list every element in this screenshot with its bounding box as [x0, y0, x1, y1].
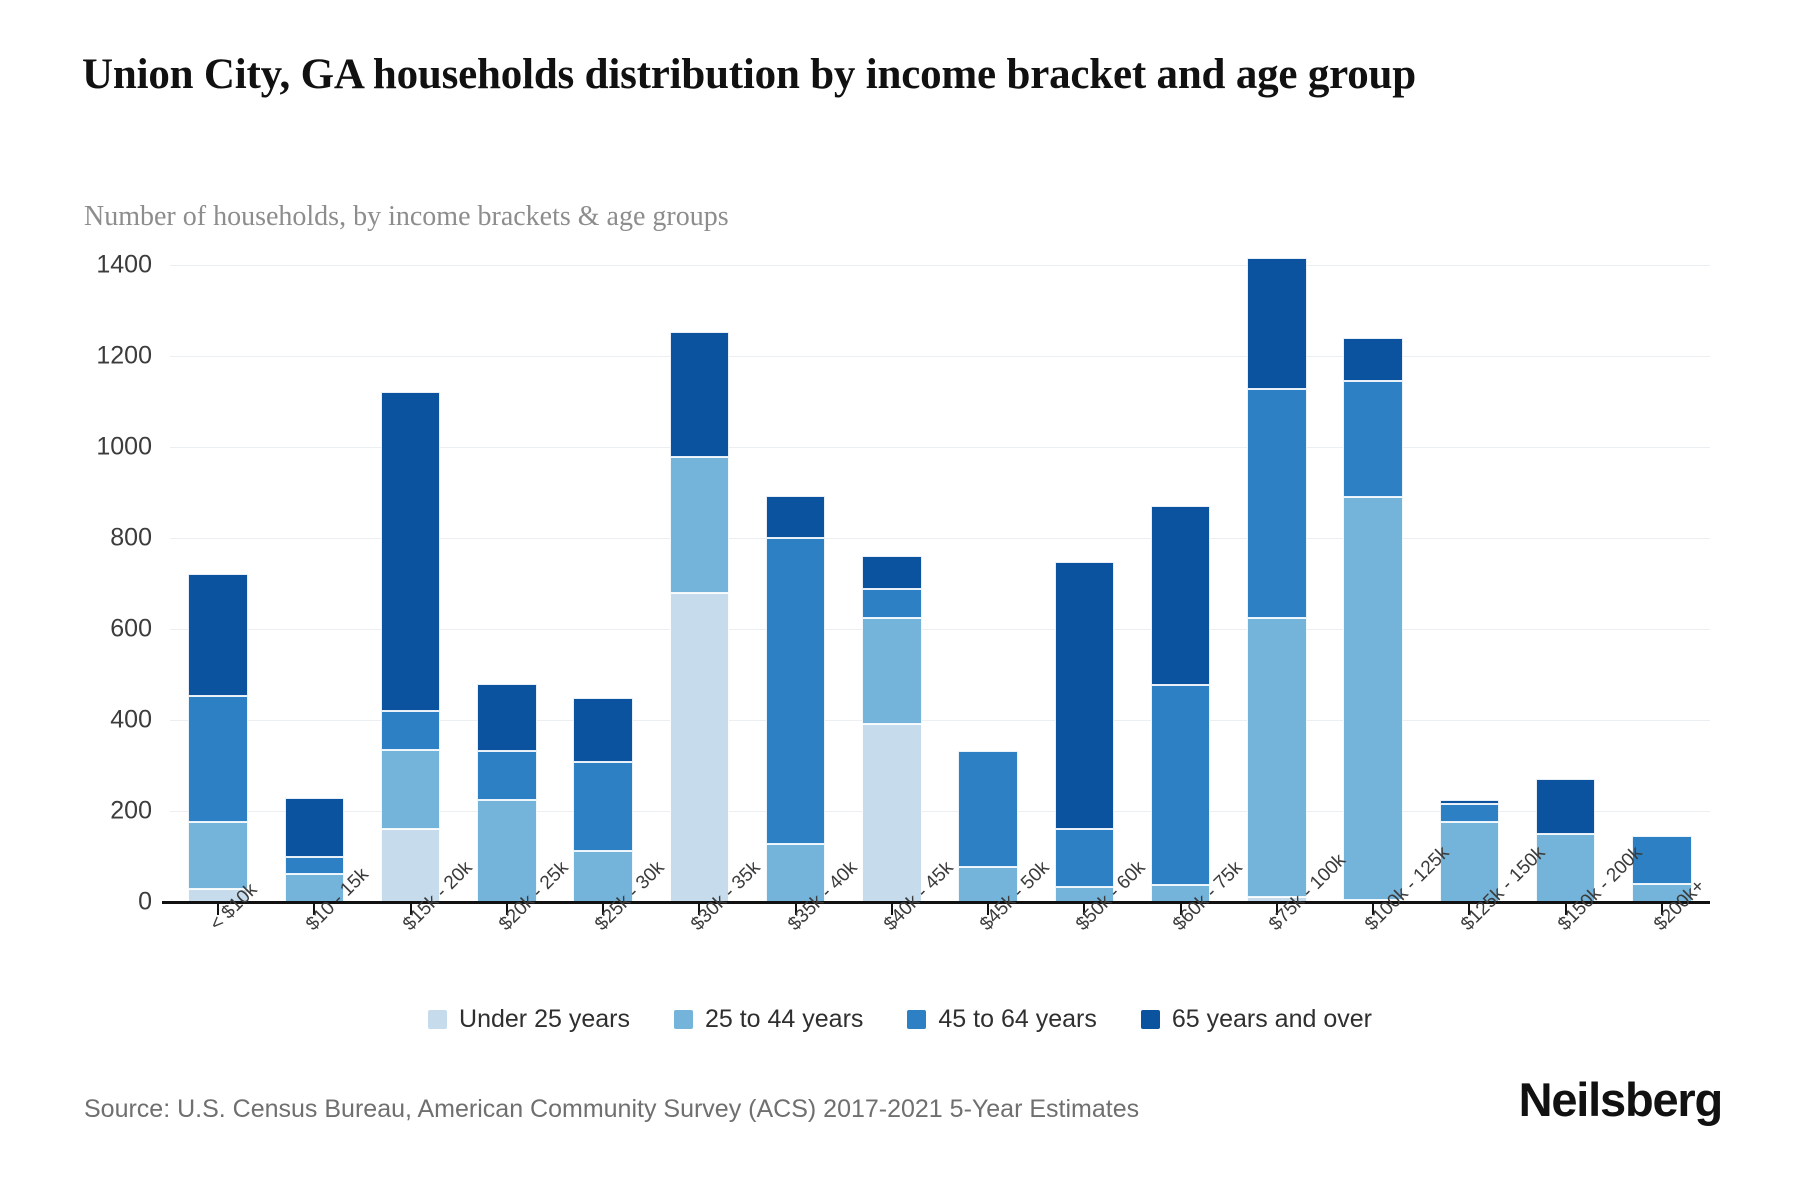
legend-label: Under 25 years: [459, 1005, 630, 1034]
legend-swatch: [907, 1010, 926, 1029]
chart-legend: Under 25 years25 to 44 years45 to 64 yea…: [0, 1005, 1800, 1034]
bar-segment[interactable]: [381, 392, 441, 711]
chart-title: Union City, GA households distribution b…: [82, 48, 1642, 102]
legend-item[interactable]: 45 to 64 years: [907, 1005, 1096, 1034]
chart-subtitle: Number of households, by income brackets…: [84, 200, 1484, 234]
y-axis-tick-label: 1000: [96, 433, 152, 462]
bar-stack[interactable]: [1536, 779, 1596, 902]
y-axis-tick-label: 1200: [96, 342, 152, 371]
bar-stack[interactable]: [1247, 258, 1307, 902]
source-note: Source: U.S. Census Bureau, American Com…: [84, 1095, 1139, 1124]
bar-segment[interactable]: [670, 593, 730, 902]
bar-segment[interactable]: [188, 696, 248, 822]
legend-label: 25 to 44 years: [705, 1005, 863, 1034]
y-axis-tick-label: 1400: [96, 251, 152, 280]
bar-segment[interactable]: [285, 798, 345, 856]
bar-stack[interactable]: [766, 496, 826, 902]
legend-swatch: [1141, 1010, 1160, 1029]
bar-segment[interactable]: [477, 751, 537, 800]
bar-stack[interactable]: [670, 332, 730, 902]
bar-segment[interactable]: [958, 751, 1018, 867]
legend-swatch: [428, 1010, 447, 1029]
bar-segment[interactable]: [1247, 258, 1307, 389]
bar-segment[interactable]: [1247, 618, 1307, 898]
plot-area: 0200400600800100012001400: [170, 265, 1710, 902]
bar-segment[interactable]: [766, 496, 826, 538]
bar-stack[interactable]: [381, 392, 441, 902]
bar-segment[interactable]: [1440, 804, 1500, 822]
bar-segment[interactable]: [381, 711, 441, 750]
bar-stack[interactable]: [477, 684, 537, 902]
bar-stack[interactable]: [188, 574, 248, 902]
bar-segment[interactable]: [1343, 381, 1403, 497]
legend-swatch: [674, 1010, 693, 1029]
bar-segment[interactable]: [862, 556, 922, 589]
bar-segment[interactable]: [1151, 685, 1211, 885]
bar-stack[interactable]: [1343, 338, 1403, 902]
bar-segment[interactable]: [1055, 829, 1115, 887]
bar-series-container: [170, 265, 1710, 902]
bar-stack[interactable]: [958, 751, 1018, 903]
bar-segment[interactable]: [670, 457, 730, 593]
bar-segment[interactable]: [188, 822, 248, 889]
bar-segment[interactable]: [1343, 497, 1403, 900]
legend-item[interactable]: 65 years and over: [1141, 1005, 1372, 1034]
bar-segment[interactable]: [862, 618, 922, 724]
legend-label: 45 to 64 years: [938, 1005, 1096, 1034]
bar-segment[interactable]: [285, 857, 345, 874]
bar-segment[interactable]: [862, 589, 922, 619]
legend-item[interactable]: 25 to 44 years: [674, 1005, 863, 1034]
bar-stack[interactable]: [1055, 562, 1115, 902]
legend-label: 65 years and over: [1172, 1005, 1372, 1034]
bar-segment[interactable]: [766, 538, 826, 844]
y-axis-tick-label: 400: [110, 706, 152, 735]
bar-stack[interactable]: [862, 556, 922, 902]
bar-stack[interactable]: [1151, 506, 1211, 902]
bar-segment[interactable]: [573, 762, 633, 851]
bar-segment[interactable]: [381, 750, 441, 830]
bar-segment[interactable]: [1151, 506, 1211, 685]
bar-segment[interactable]: [1055, 562, 1115, 829]
y-axis-tick-label: 800: [110, 524, 152, 553]
bar-segment[interactable]: [670, 332, 730, 457]
bar-segment[interactable]: [573, 698, 633, 762]
bar-segment[interactable]: [188, 574, 248, 696]
y-axis-tick-label: 200: [110, 797, 152, 826]
bar-segment[interactable]: [477, 684, 537, 751]
bar-stack[interactable]: [573, 698, 633, 902]
y-axis-tick-label: 0: [138, 888, 152, 917]
legend-item[interactable]: Under 25 years: [428, 1005, 630, 1034]
bar-segment[interactable]: [1247, 389, 1307, 617]
bar-segment[interactable]: [1343, 338, 1403, 381]
bar-segment[interactable]: [1536, 779, 1596, 834]
y-axis-tick-label: 600: [110, 615, 152, 644]
brand-logo: Neilsberg: [1519, 1072, 1722, 1127]
bar-segment[interactable]: [862, 724, 922, 902]
